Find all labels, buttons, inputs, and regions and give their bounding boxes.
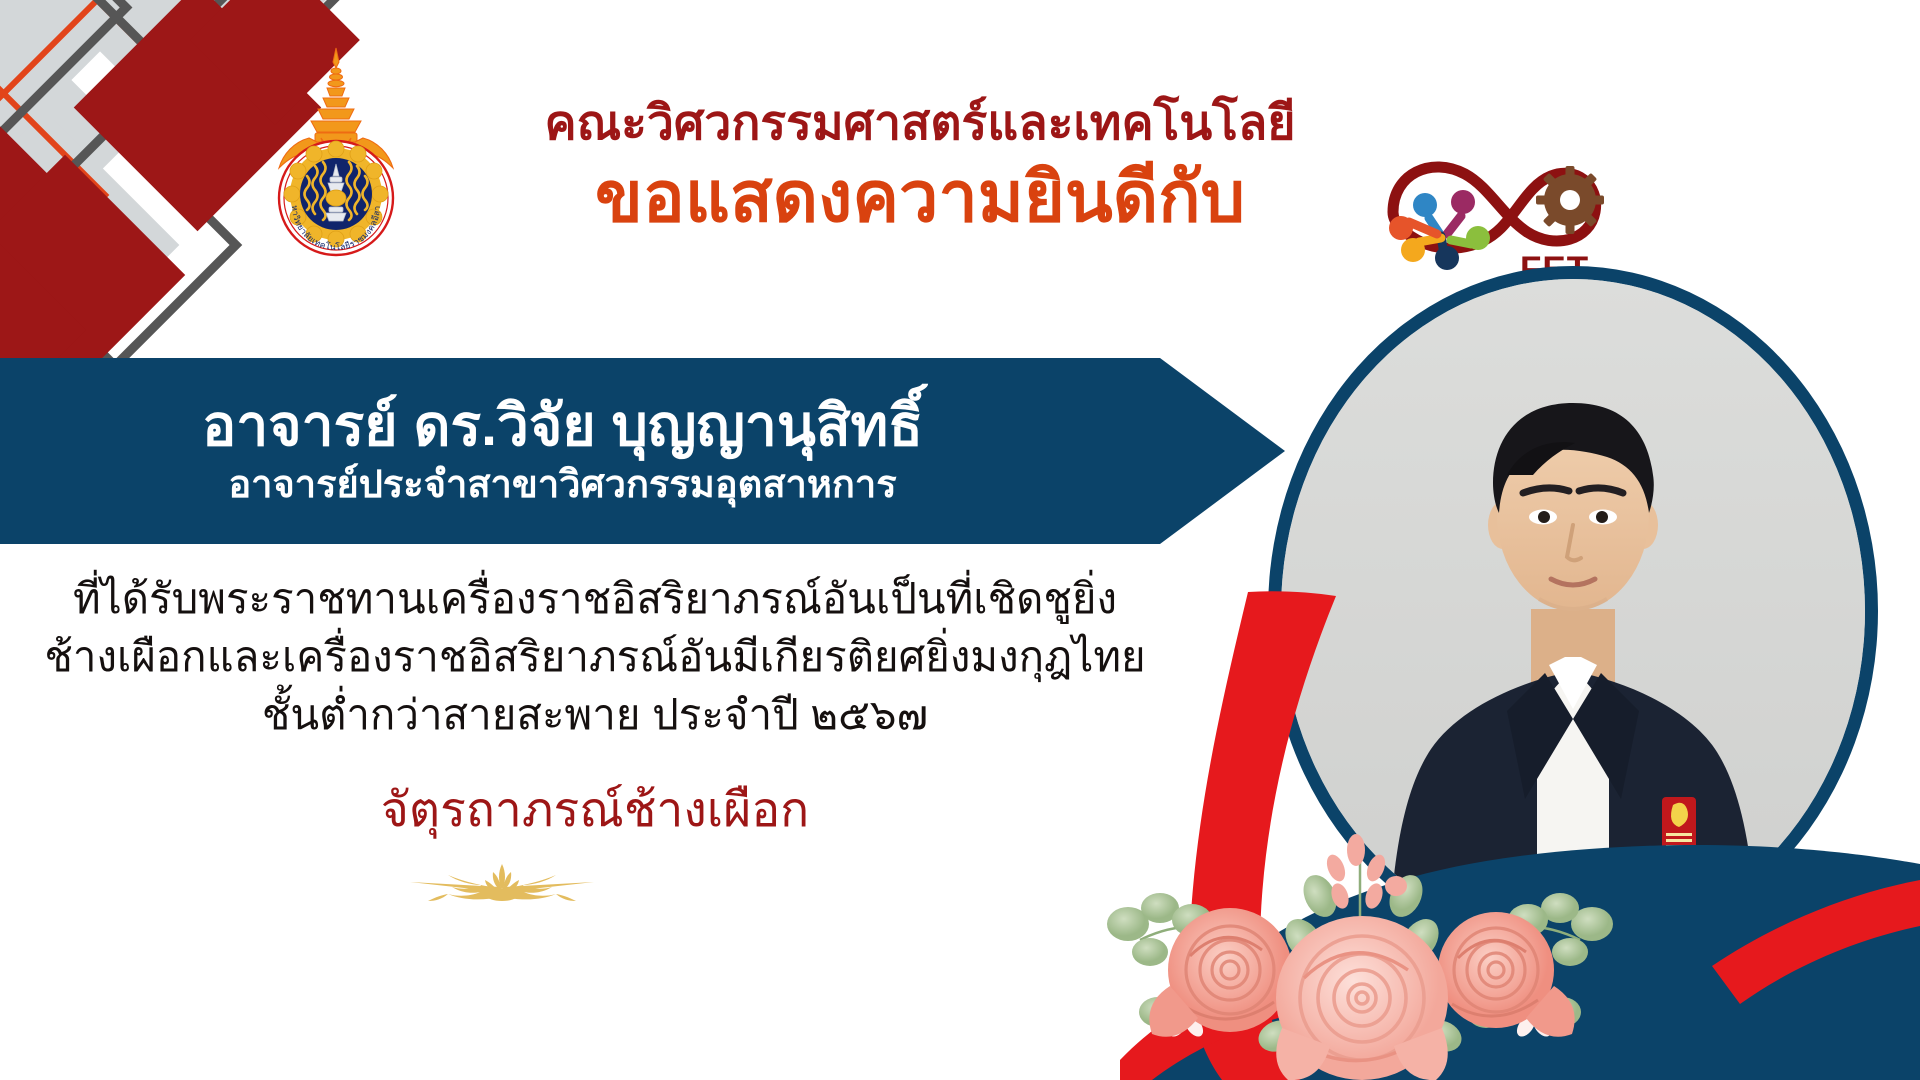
banner-canvas: มหาวิทยาลัยเทคโนโลยีราชมงคลอีสาน คณะวิศว…	[0, 0, 1920, 1080]
citation-line-2: ช้างเผือกและเครื่องราชอิสริยาภรณ์อันมีเก…	[30, 628, 1160, 686]
honoree-name: อาจารย์ ดร.วิจัย บุญญานุสิทธิ์	[202, 395, 923, 458]
rose-bouquet-decoration	[1020, 800, 1700, 1080]
award-title: จัตุรถาภรณ์ช้างเผือก	[30, 772, 1160, 848]
citation-line-1: ที่ได้รับพระราชทานเครื่องราชอิสริยาภรณ์อ…	[30, 570, 1160, 628]
honoree-role: อาจารย์ประจำสาขาวิศวกรรมอุตสาหการ	[228, 464, 896, 508]
rmuti-seal-icon: มหาวิทยาลัยเทคโนโลยีราชมงคลอีสาน	[259, 46, 413, 266]
header-text-group: คณะวิศวกรรมศาสตร์และเทคโนโลยี ขอแสดงความ…	[470, 96, 1370, 239]
congratulations-title: ขอแสดงความยินดีกับ	[470, 155, 1370, 239]
fet-logo-icon	[1385, 140, 1635, 285]
faculty-title: คณะวิศวกรรมศาสตร์และเทคโนโลยี	[470, 96, 1370, 151]
citation-line-3: ชั้นต่ำกว่าสายสะพาย ประจำปี ๒๕๖๗	[30, 686, 1160, 744]
citation-paragraph: ที่ได้รับพระราชทานเครื่องราชอิสริยาภรณ์อ…	[30, 570, 1160, 744]
honoree-name-banner: อาจารย์ ดร.วิจัย บุญญานุสิทธิ์ อาจารย์ปร…	[0, 358, 1285, 544]
gold-flourish-divider-icon	[352, 856, 652, 916]
